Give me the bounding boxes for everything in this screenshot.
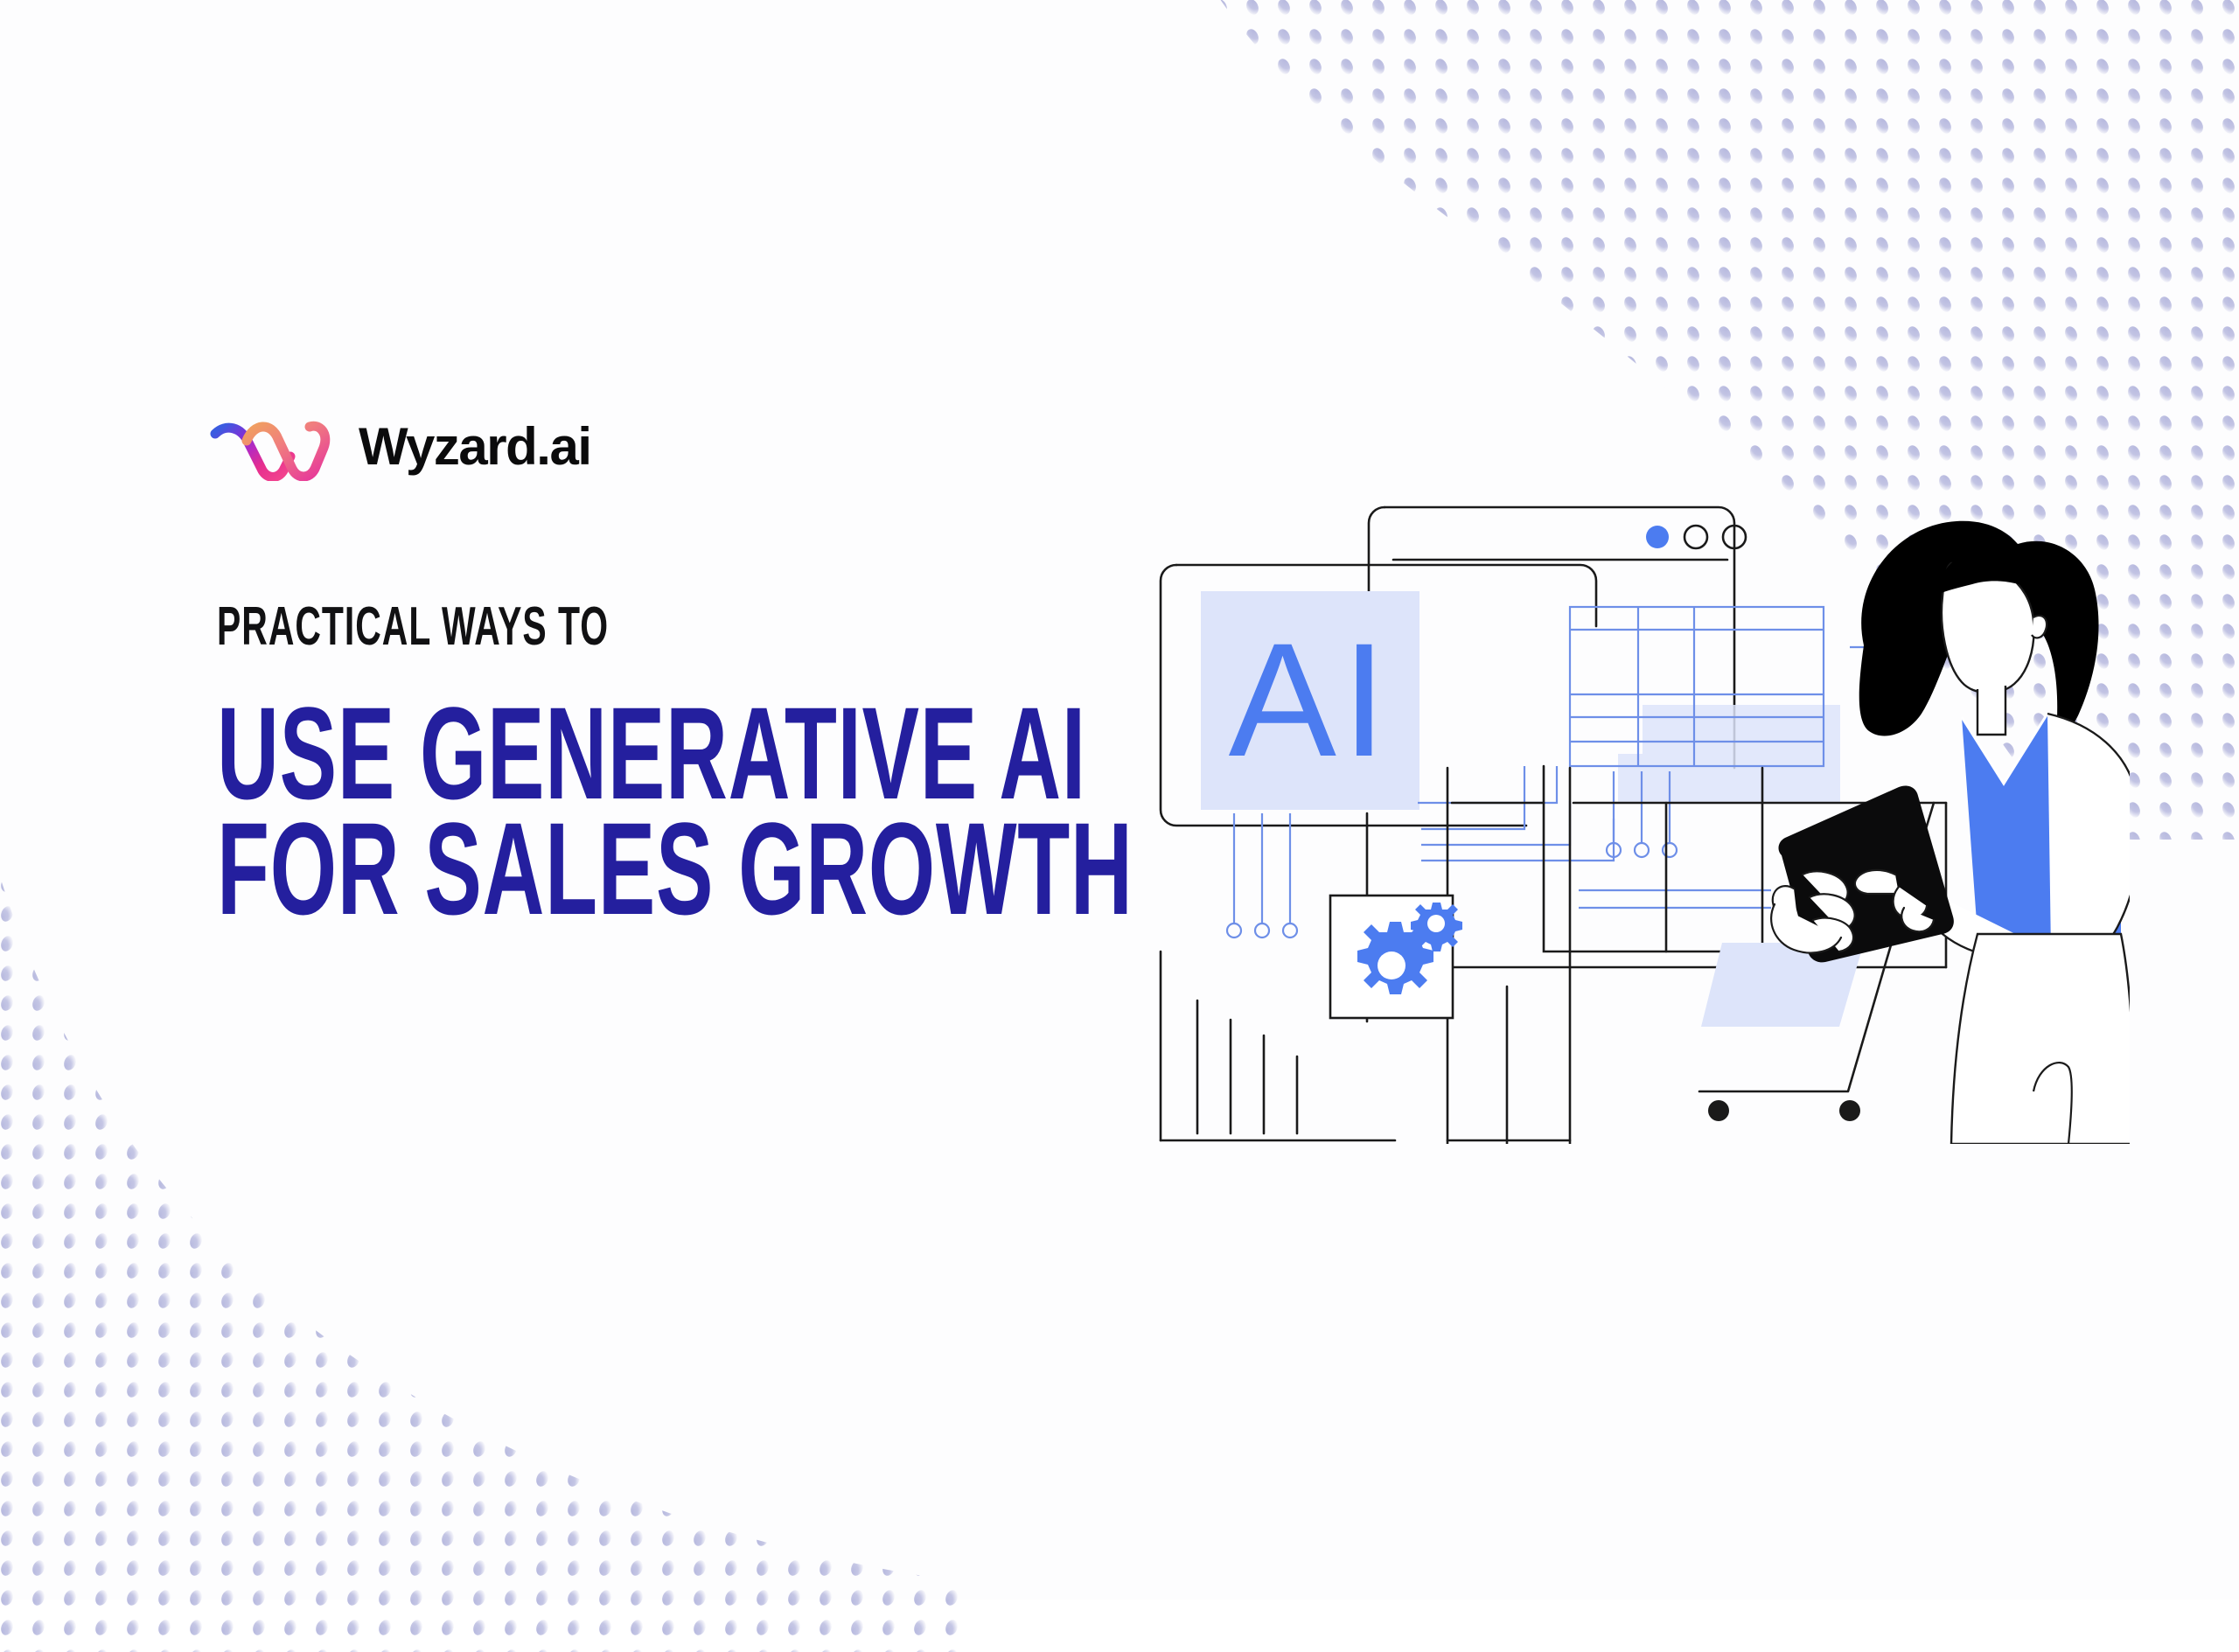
ai-panel-label: AI xyxy=(1229,610,1392,791)
brand-logo[interactable]: Wyzard.ai xyxy=(208,413,591,481)
cart-wheel-right xyxy=(1839,1100,1860,1121)
wyzard-wave-w-icon xyxy=(208,413,341,481)
browser-dots xyxy=(1646,526,1746,548)
woman-holding-tablet xyxy=(1771,521,2130,1144)
ai-sales-illustration: AI xyxy=(1159,479,2130,1144)
brand-wordmark: Wyzard.ai xyxy=(359,421,591,473)
gear-icon-box xyxy=(1330,896,1462,1018)
browser-dot-filled xyxy=(1646,526,1669,548)
headline-line-2: FOR SALES GROWTH xyxy=(217,808,1133,929)
data-table xyxy=(1570,607,1840,803)
headline-eyebrow: PRACTICAL WAYS TO xyxy=(217,600,1140,654)
cart-wheel-left xyxy=(1708,1100,1729,1121)
browser-dot-outline-1 xyxy=(1684,526,1707,548)
